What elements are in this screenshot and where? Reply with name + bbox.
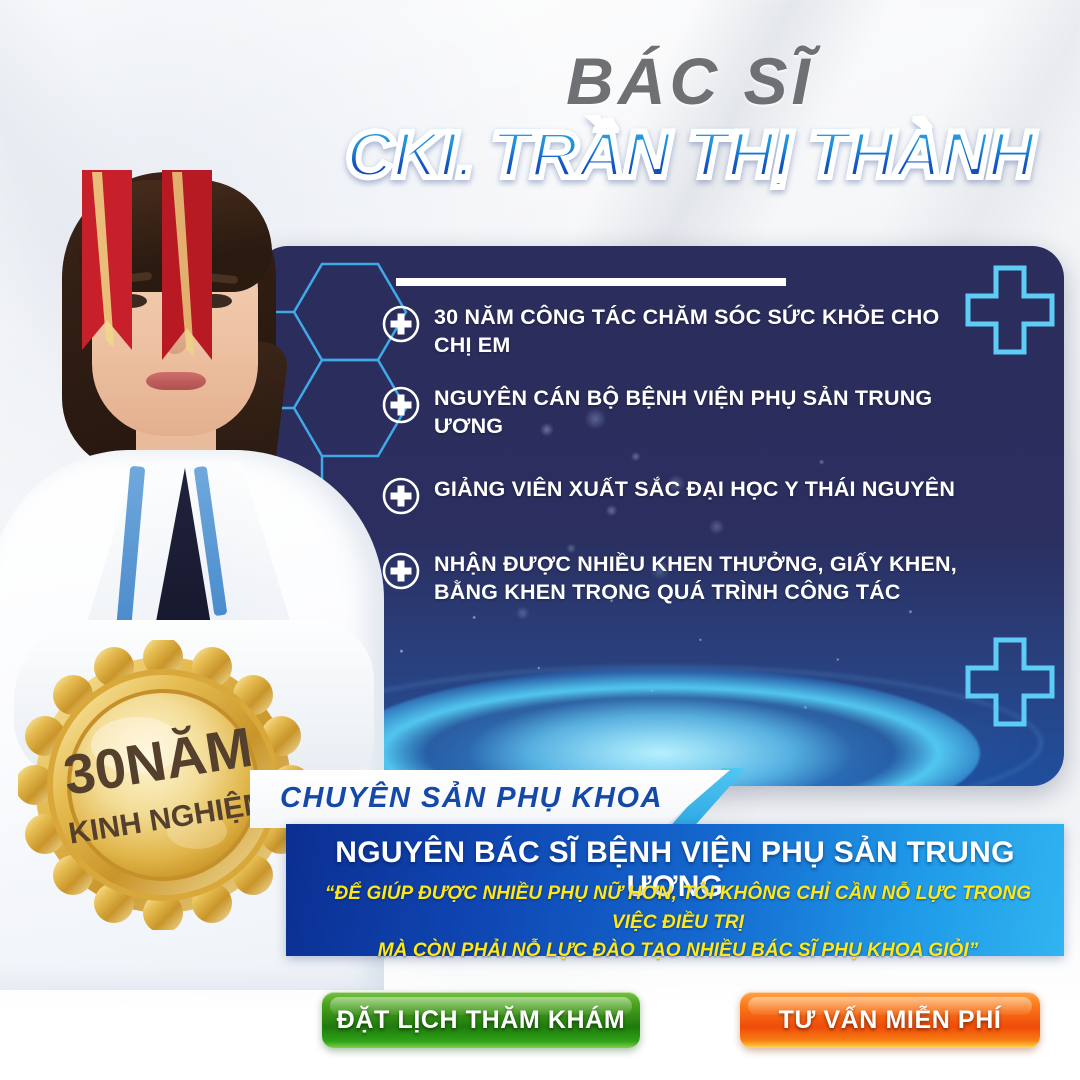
medical-cross-circle-icon [382, 305, 420, 343]
doctor-name-title: CKI. TRẦN THỊ THÀNH [340, 120, 1040, 189]
free-consultation-button[interactable]: TƯ VẤN MIỄN PHÍ [740, 992, 1040, 1048]
experience-medal-badge: 30NĂM KINH NGHIỆM [18, 640, 308, 1020]
specialty-label: CHUYÊN SẢN PHỤ KHOA [280, 782, 663, 815]
medal-ribbon-tails [58, 160, 238, 375]
quote-line-2: MÀ CÒN PHẢI NỖ LỰC ĐÀO TẠO NHIỀU BÁC SĨ … [310, 937, 1046, 966]
medical-cross-circle-icon [382, 552, 420, 590]
credential-text: GIẢNG VIÊN XUẤT SẮC ĐẠI HỌC Y THÁI NGUYÊ… [434, 476, 955, 504]
poster-root: BÁC SĨ CKI. TRẦN THỊ THÀNH [0, 0, 1080, 1080]
medical-cross-circle-icon [382, 477, 420, 515]
quote-line-1: “ĐỂ GIÚP ĐƯỢC NHIỀU PHỤ NỮ HƠN, TÔI KHÔN… [310, 880, 1046, 937]
hospital-banner: NGUYÊN BÁC SĨ BỆNH VIỆN PHỤ SẢN TRUNG ƯƠ… [286, 824, 1064, 956]
medical-cross-circle-icon [382, 386, 420, 424]
credentials-list: 30 NĂM CÔNG TÁC CHĂM SÓC SỨC KHỎE CHO CH… [382, 304, 982, 632]
book-appointment-button[interactable]: ĐẶT LỊCH THĂM KHÁM [322, 992, 640, 1048]
credential-text: NGUYÊN CÁN BỘ BỆNH VIỆN PHỤ SẢN TRUNG ƯƠ… [434, 385, 982, 440]
credential-text: 30 NĂM CÔNG TÁC CHĂM SÓC SỨC KHỎE CHO CH… [434, 304, 982, 359]
panel-divider [396, 278, 786, 286]
credential-text: NHẬN ĐƯỢC NHIỀU KHEN THƯỞNG, GIẤY KHEN, … [434, 551, 982, 606]
button-gloss [330, 997, 632, 1015]
button-gloss [748, 997, 1032, 1015]
list-item: GIẢNG VIÊN XUẤT SẮC ĐẠI HỌC Y THÁI NGUYÊ… [382, 476, 982, 515]
banner-quote: “ĐỂ GIÚP ĐƯỢC NHIỀU PHỤ NỮ HƠN, TÔI KHÔN… [310, 880, 1046, 966]
specialty-ribbon: CHUYÊN SẢN PHỤ KHOA [250, 770, 730, 828]
list-item: 30 NĂM CÔNG TÁC CHĂM SÓC SỨC KHỎE CHO CH… [382, 304, 982, 359]
eyebrow-title: BÁC SĨ [340, 48, 1040, 114]
medical-cross-icon-bottom [962, 634, 1058, 730]
headline-block: BÁC SĨ CKI. TRẦN THỊ THÀNH [340, 48, 1040, 189]
list-item: NGUYÊN CÁN BỘ BỆNH VIỆN PHỤ SẢN TRUNG ƯƠ… [382, 385, 982, 440]
list-item: NHẬN ĐƯỢC NHIỀU KHEN THƯỞNG, GIẤY KHEN, … [382, 551, 982, 606]
